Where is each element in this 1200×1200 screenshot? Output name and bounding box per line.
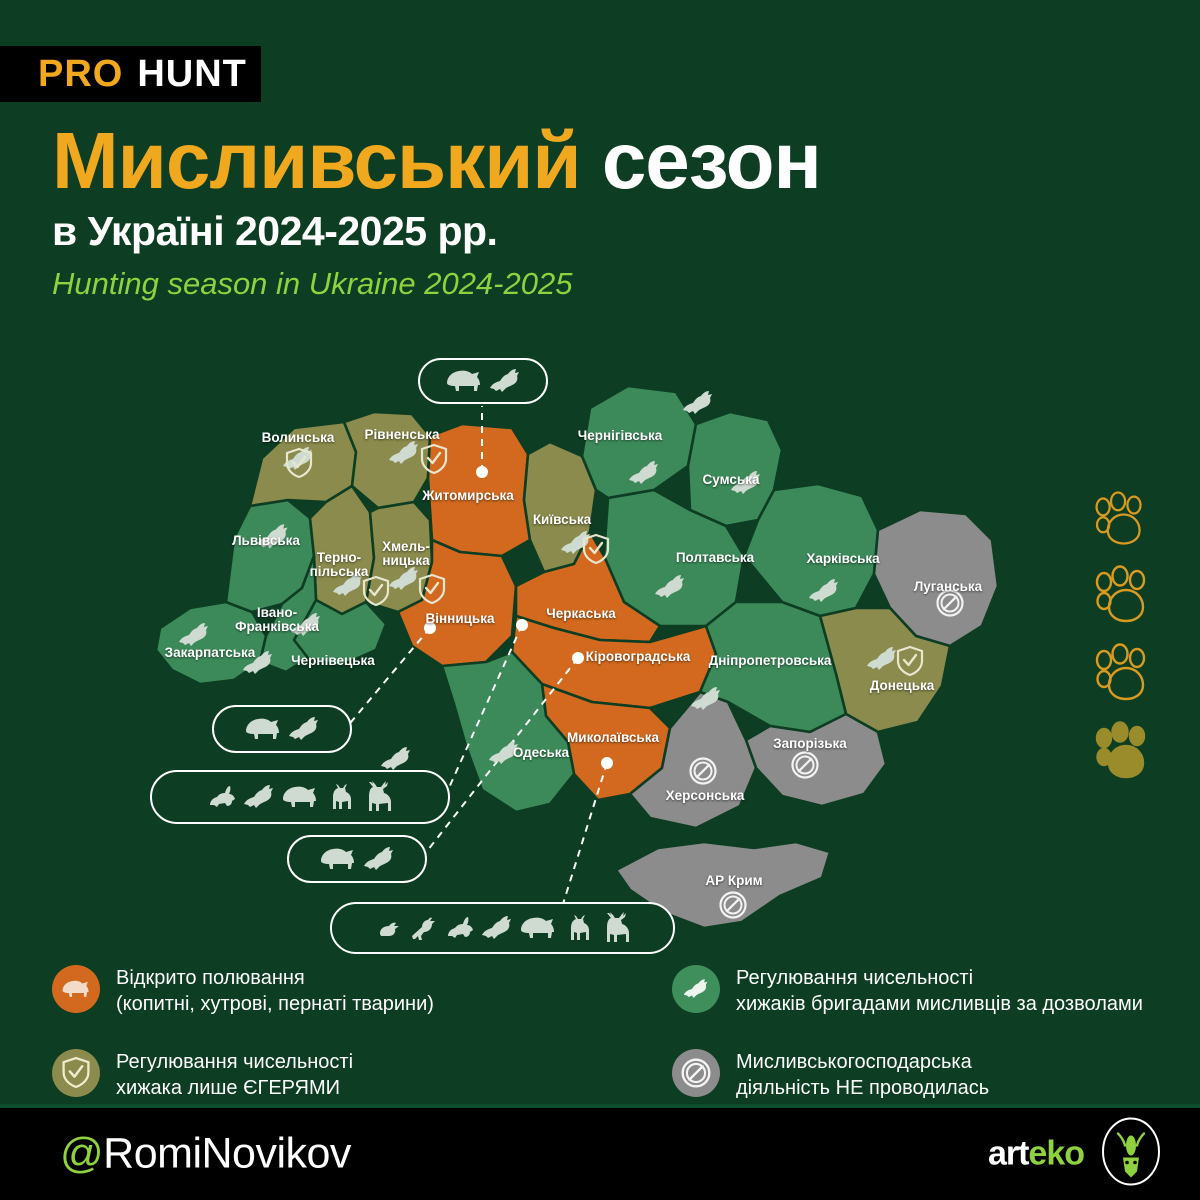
legend-line-1: Регулювання чисельності xyxy=(116,1050,353,1076)
fox-icon xyxy=(683,977,709,1001)
handle-name: RomiNovikov xyxy=(103,1130,351,1178)
legend-line-2: хижаків бригадами мисливців за дозволами xyxy=(736,992,1143,1018)
legend-line-1: Мисливськогосподарська xyxy=(736,1050,989,1076)
social-handle[interactable]: @RomiNovikov xyxy=(60,1130,351,1179)
ukraine-map: ВолинськаРівненськаЖитомирськаКиївськаЧе… xyxy=(130,350,1070,970)
at-symbol: @ xyxy=(60,1130,103,1178)
callout-zhytomyr xyxy=(418,358,548,404)
boar-icon xyxy=(244,717,282,741)
paw-print-icon xyxy=(1090,488,1148,554)
legend-label: Регулювання чисельностіхижаків бригадами… xyxy=(736,965,1143,1017)
title-white: сезон xyxy=(602,116,821,205)
arteko-part2: eko xyxy=(1028,1135,1084,1173)
legend: Відкрито полювання(копитні, хутрові, пер… xyxy=(52,965,1152,1101)
fox-icon xyxy=(481,915,513,941)
fox-icon xyxy=(243,784,275,810)
callout-mykolaiv xyxy=(330,902,675,954)
prohibited-icon xyxy=(680,1057,712,1089)
paw-print-icon xyxy=(1090,640,1152,710)
legend-label: Мисливськогосподарськадіяльність НЕ пров… xyxy=(736,1049,989,1101)
legend-line-1: Регулювання чисельності xyxy=(736,966,1143,992)
region-zhytomyrska xyxy=(428,424,530,556)
shield-check-icon xyxy=(61,1057,91,1089)
legend-item-ranger-regulation: Регулювання чисельностіхижака лише ЄГЕРЯ… xyxy=(52,1049,672,1101)
legend-item-no-activity: Мисливськогосподарськадіяльність НЕ пров… xyxy=(672,1049,1152,1101)
callout-kirovohrad xyxy=(287,835,427,883)
legend-badge xyxy=(52,1049,100,1097)
legend-line-2: (копитні, хутрові, пернаті тварини) xyxy=(116,992,434,1018)
boar-icon xyxy=(61,978,91,1000)
title-block: Мисливський сезон в Україні 2024-2025 рр… xyxy=(52,122,821,302)
boar-icon xyxy=(519,916,557,940)
legend-badge xyxy=(672,1049,720,1097)
title-gold: Мисливський xyxy=(52,116,581,205)
arteko-wordmark: arteko xyxy=(988,1135,1084,1174)
footer: @RomiNovikov arteko xyxy=(0,1108,1200,1200)
brand-logo: PRO HUNT xyxy=(0,46,261,102)
hare-icon xyxy=(445,916,475,940)
fox-icon xyxy=(363,846,395,872)
infographic-root: PRO HUNT Мисливський сезон в Україні 202… xyxy=(0,0,1200,1200)
boar-icon xyxy=(319,847,357,871)
red-deer-icon xyxy=(597,912,631,944)
legend-badge xyxy=(52,965,100,1013)
legend-label: Відкрито полювання(копитні, хутрові, пер… xyxy=(116,965,434,1017)
legend-line-2: хижака лише ЄГЕРЯМИ xyxy=(116,1076,353,1102)
duck-icon xyxy=(375,917,403,939)
paw-print-icon xyxy=(1090,562,1152,632)
legend-line-1: Відкрито полювання xyxy=(116,966,434,992)
boar-icon xyxy=(445,369,483,393)
callout-vinnytsia xyxy=(212,705,352,753)
map-svg xyxy=(130,350,1070,970)
fox-icon xyxy=(489,368,521,394)
subtitle-en: Hunting season in Ukraine 2024-2025 xyxy=(52,266,821,302)
boar-icon xyxy=(281,785,319,809)
legend-item-open-hunting: Відкрито полювання(копитні, хутрові, пер… xyxy=(52,965,672,1017)
roe-deer-icon xyxy=(325,783,353,811)
legend-line-2: діяльність НЕ проводилась xyxy=(736,1076,989,1102)
arteko-emblem-icon xyxy=(1100,1116,1162,1193)
fox-icon xyxy=(288,716,320,742)
legend-badge xyxy=(672,965,720,1013)
page-title: Мисливський сезон xyxy=(52,122,821,200)
region-chernihivska xyxy=(582,386,696,498)
roe-deer-icon xyxy=(563,914,591,942)
arteko-part1: art xyxy=(988,1135,1028,1173)
legend-item-brigade-regulation: Регулювання чисельностіхижаків бригадами… xyxy=(672,965,1152,1017)
brand-hunt-text: HUNT xyxy=(137,55,247,93)
legend-label: Регулювання чисельностіхижака лише ЄГЕРЯ… xyxy=(116,1049,353,1101)
hare-icon xyxy=(207,785,237,809)
pheasant-icon xyxy=(409,915,439,941)
subtitle-uk: в Україні 2024-2025 рр. xyxy=(52,208,821,255)
callout-cherkasy xyxy=(150,770,450,824)
brand-pro-text: PRO xyxy=(38,55,123,93)
paw-print-icon xyxy=(1090,718,1152,788)
brand-box: PRO HUNT xyxy=(0,46,261,102)
red-deer-icon xyxy=(359,781,393,813)
paw-print-decor xyxy=(1090,488,1170,796)
